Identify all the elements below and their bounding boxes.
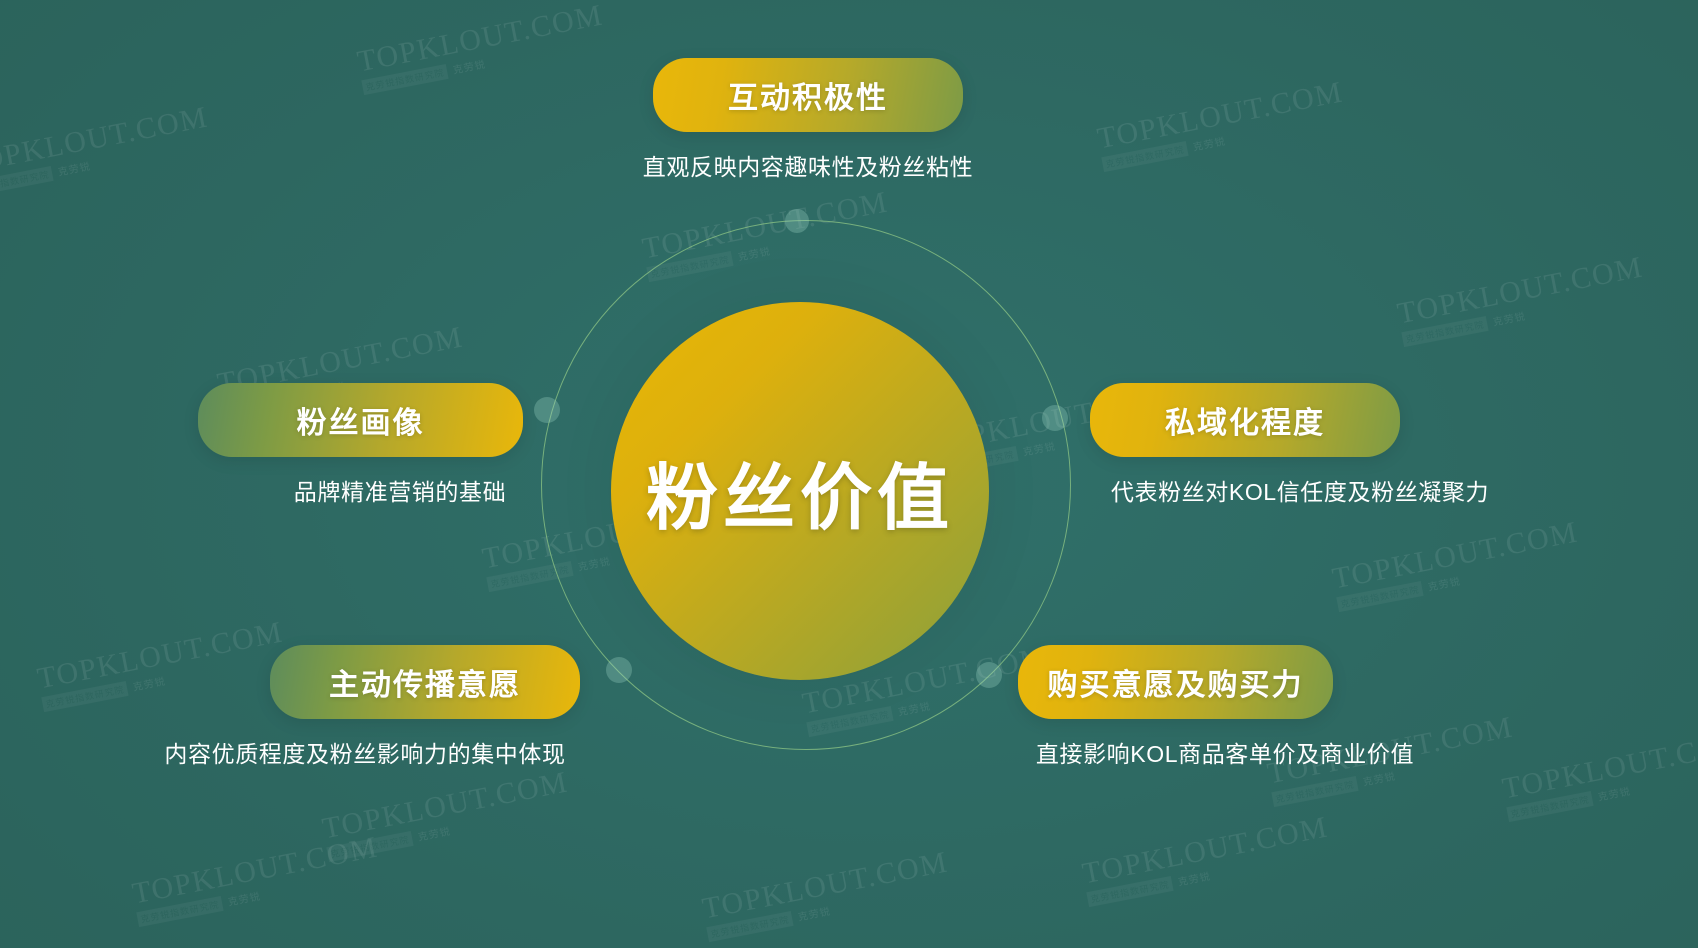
watermark-sub2-text: 克劳锐 [227,891,261,908]
watermark-sub2-text: 克劳锐 [452,59,486,76]
ring-dot-top [785,209,809,233]
node-pill-interaction-positivity[interactable]: 互动积极性 [653,58,963,132]
watermark-sub2-text: 克劳锐 [57,161,91,178]
watermark-main-text: TOPKLOUT.COM [1330,517,1581,594]
watermark-main-text: TOPKLOUT.COM [355,0,606,77]
watermark-sub2-text: 克劳锐 [1362,771,1396,788]
node-desc-active-spread-willingness: 内容优质程度及粉丝影响力的集中体现 [140,735,590,769]
watermark-2: TOPKLOUT.COM克劳锐指数研究院克劳锐 [0,102,214,198]
watermark-sub-text: 克劳锐指数研究院 [1401,316,1488,347]
watermark-sub2-text: 克劳锐 [1177,871,1211,888]
watermark-1: TOPKLOUT.COM克劳锐指数研究院克劳锐 [1095,77,1349,173]
node-label-fan-portrait: 粉丝画像 [297,398,425,442]
watermark-main-text: TOPKLOUT.COM [1395,252,1646,329]
watermark-sub2-text: 克劳锐 [797,906,831,923]
watermark-15: TOPKLOUT.COM克劳锐指数研究院克劳锐 [700,847,954,943]
watermark-13: TOPKLOUT.COM克劳锐指数研究院克劳锐 [1500,727,1698,823]
node-private-domain[interactable]: 私域化程度 代表粉丝对KOL信任度及粉丝凝聚力 [1090,383,1510,507]
node-desc-private-domain: 代表粉丝对KOL信任度及粉丝凝聚力 [1090,473,1510,507]
node-active-spread-willingness[interactable]: 主动传播意愿 内容优质程度及粉丝影响力的集中体现 [140,645,590,769]
node-interaction-positivity[interactable]: 互动积极性 直观反映内容趣味性及粉丝粘性 [613,58,1003,182]
node-label-active-spread-willingness: 主动传播意愿 [329,660,521,704]
node-desc-interaction-positivity: 直观反映内容趣味性及粉丝粘性 [613,148,1003,182]
watermark-main-text: TOPKLOUT.COM [1080,812,1331,889]
watermark-sub2-text: 克劳锐 [1597,786,1631,803]
watermark-sub-text: 克劳锐指数研究院 [326,831,413,862]
watermark-main-text: TOPKLOUT.COM [0,102,211,179]
watermark-sub-text: 克劳锐指数研究院 [1336,581,1423,612]
watermark-main-text: TOPKLOUT.COM [130,832,381,909]
watermark-main-text: TOPKLOUT.COM [1095,77,1346,154]
watermark-sub-text: 克劳锐指数研究院 [1271,776,1358,807]
ring-dot-bottom-right [976,662,1002,688]
center-hub-label: 粉丝价值 [646,439,954,544]
watermark-main-text: TOPKLOUT.COM [700,847,951,924]
watermark-sub-text: 克劳锐指数研究院 [1086,876,1173,907]
ring-dot-right [1042,405,1068,431]
watermark-sub-text: 克劳锐指数研究院 [706,911,793,942]
ring-dot-bottom-left [606,657,632,683]
watermark-8: TOPKLOUT.COM克劳锐指数研究院克劳锐 [1330,517,1584,613]
infographic-canvas: TOPKLOUT.COM克劳锐指数研究院克劳锐TOPKLOUT.COM克劳锐指数… [0,0,1698,948]
watermark-sub-text: 克劳锐指数研究院 [1101,141,1188,172]
node-desc-fan-portrait: 品牌精准营销的基础 [190,473,610,507]
node-pill-purchase-intent-power[interactable]: 购买意愿及购买力 [1018,645,1333,719]
node-label-purchase-intent-power: 购买意愿及购买力 [1048,660,1304,704]
node-pill-private-domain[interactable]: 私域化程度 [1090,383,1400,457]
node-purchase-intent-power[interactable]: 购买意愿及购买力 直接影响KOL商品客单价及商业价值 [1010,645,1440,769]
node-desc-purchase-intent-power: 直接影响KOL商品客单价及商业价值 [1010,735,1440,769]
watermark-sub-text: 克劳锐指数研究院 [1506,791,1593,822]
watermark-main-text: TOPKLOUT.COM [320,767,571,844]
node-fan-portrait[interactable]: 粉丝画像 品牌精准营销的基础 [190,383,610,507]
watermark-main-text: TOPKLOUT.COM [1500,727,1698,804]
watermark-sub-text: 克劳锐指数研究院 [0,166,54,197]
node-label-interaction-positivity: 互动积极性 [728,73,888,117]
watermark-sub-text: 克劳锐指数研究院 [361,64,448,95]
watermark-sub2-text: 克劳锐 [1492,311,1526,328]
watermark-0: TOPKLOUT.COM克劳锐指数研究院克劳锐 [355,0,609,96]
node-label-private-domain: 私域化程度 [1165,398,1325,442]
watermark-14: TOPKLOUT.COM克劳锐指数研究院克劳锐 [130,832,384,928]
node-pill-fan-portrait[interactable]: 粉丝画像 [198,383,523,457]
watermark-sub2-text: 克劳锐 [417,826,451,843]
watermark-16: TOPKLOUT.COM克劳锐指数研究院克劳锐 [1080,812,1334,908]
watermark-sub-text: 克劳锐指数研究院 [41,681,128,712]
watermark-sub2-text: 克劳锐 [1192,136,1226,153]
center-hub[interactable]: 粉丝价值 [611,302,989,680]
node-pill-active-spread-willingness[interactable]: 主动传播意愿 [270,645,580,719]
watermark-12: TOPKLOUT.COM克劳锐指数研究院克劳锐 [320,767,574,863]
watermark-sub2-text: 克劳锐 [1427,576,1461,593]
watermark-5: TOPKLOUT.COM克劳锐指数研究院克劳锐 [1395,252,1649,348]
watermark-sub-text: 克劳锐指数研究院 [136,896,223,927]
